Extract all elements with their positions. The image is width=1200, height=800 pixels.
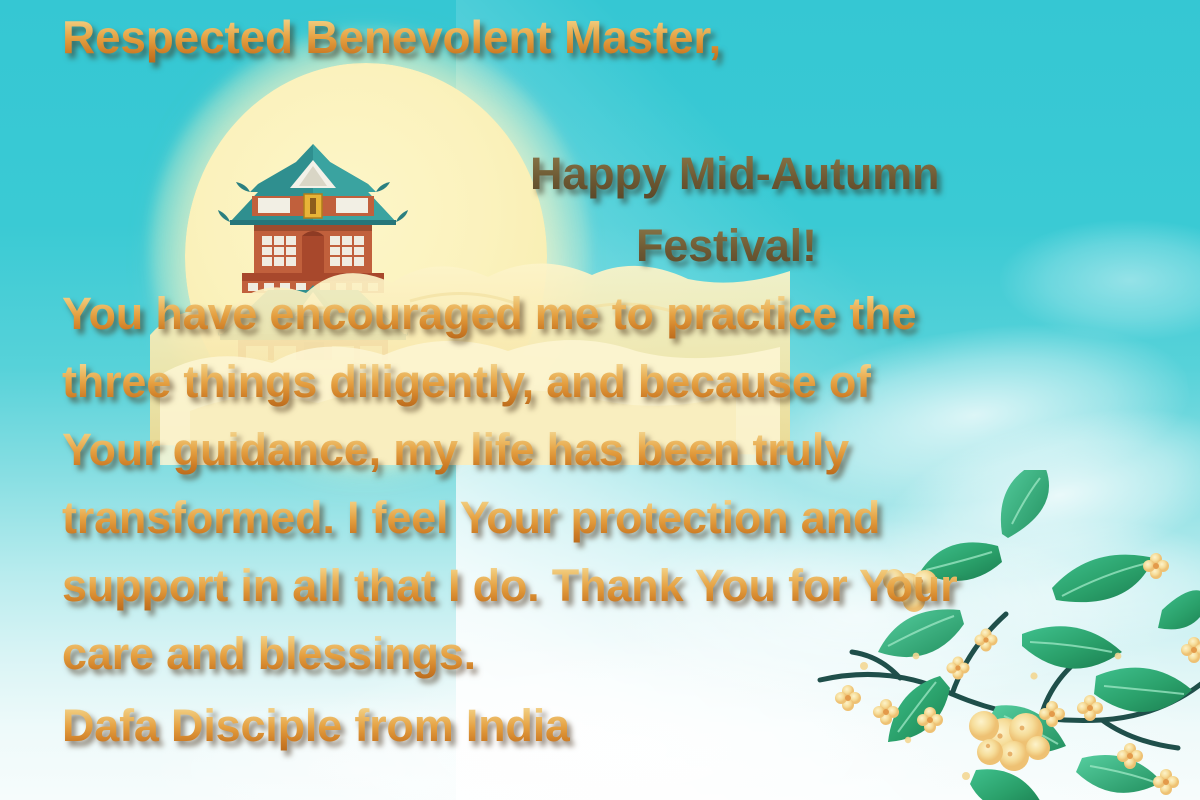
body-line: transformed. I feel Your protection and	[62, 492, 880, 544]
body-line: care and blessings.	[62, 628, 476, 680]
greeting-line-2: Festival!	[636, 220, 817, 272]
body-line: Your guidance, my life has been truly	[62, 424, 849, 476]
body-line: three things diligently, and because of	[62, 356, 871, 408]
body-line: You have encouraged me to practice the	[62, 288, 916, 340]
salutation-text: Respected Benevolent Master,	[62, 10, 721, 64]
greeting-card: Respected Benevolent Master, Happy Mid-A…	[0, 0, 1200, 800]
signature-text: Dafa Disciple from India	[62, 700, 570, 752]
body-line: support in all that I do. Thank You for …	[62, 560, 957, 612]
greeting-line-1: Happy Mid-Autumn	[530, 148, 939, 200]
